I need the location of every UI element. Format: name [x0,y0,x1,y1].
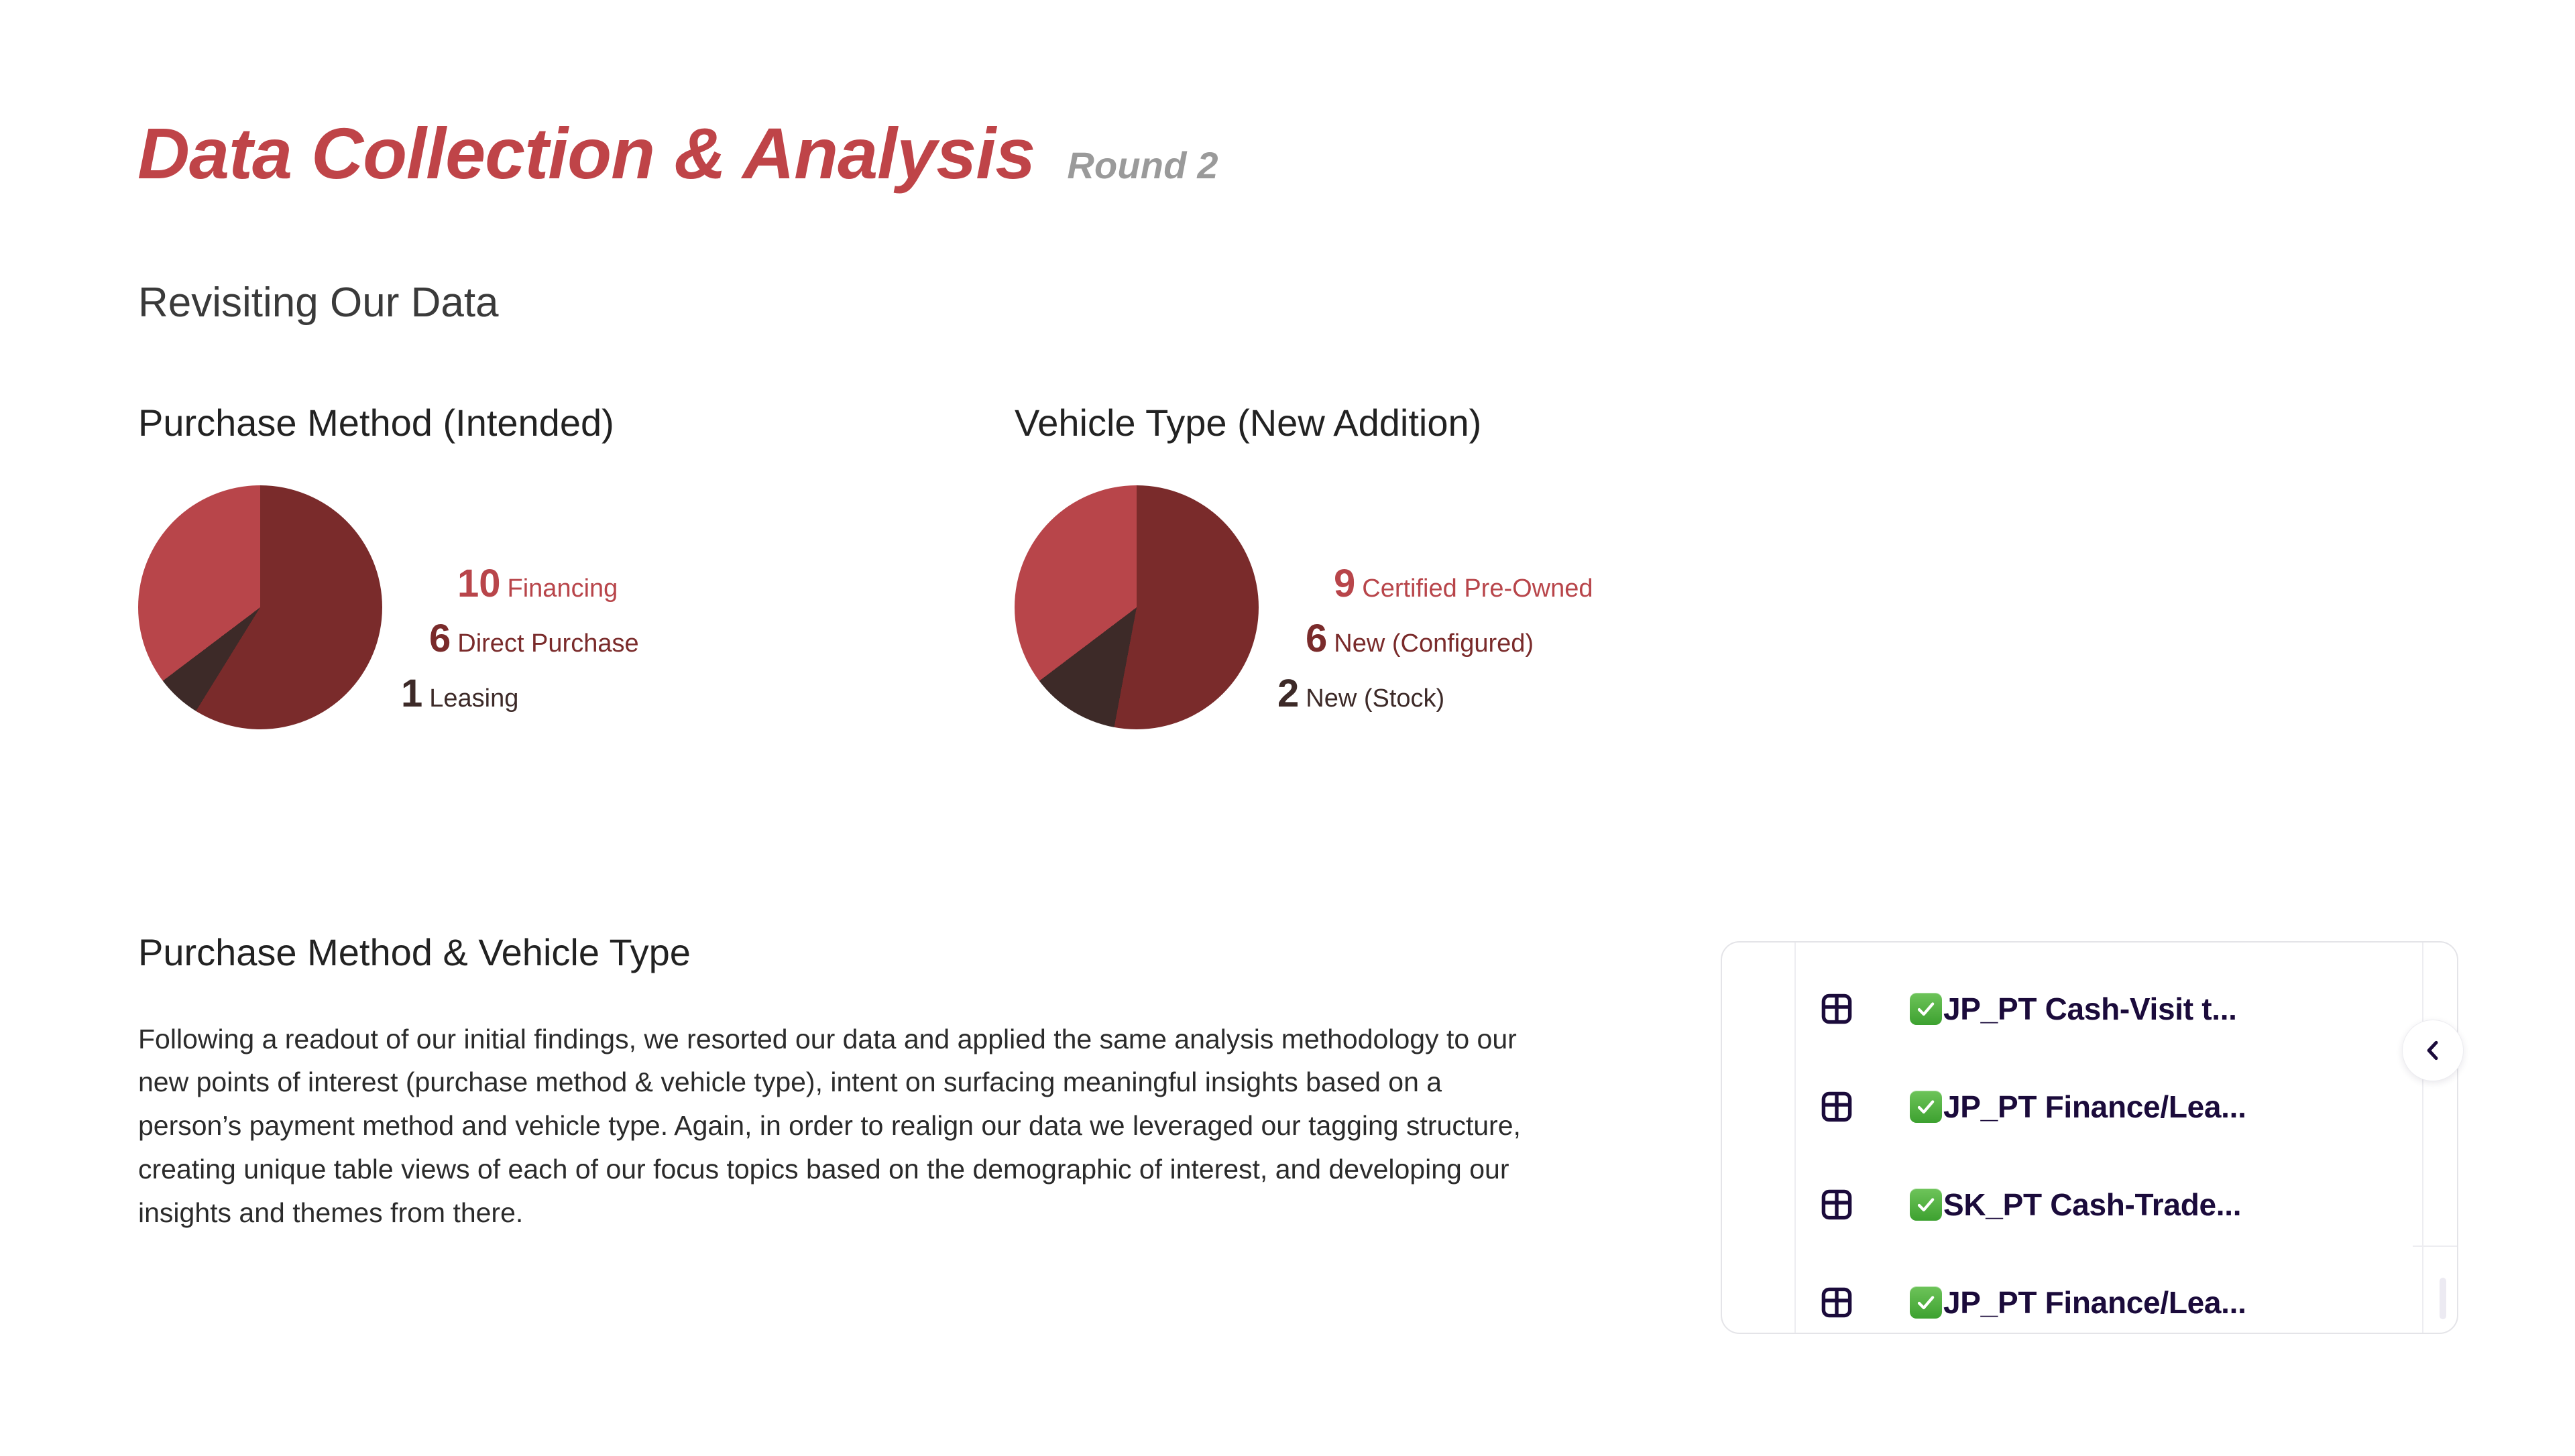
check-mark-icon [1910,993,1942,1025]
table-grid-icon [1820,1286,1853,1319]
legend-value: 2 [1277,674,1299,713]
table-row[interactable]: JP_PT Finance/Lea... [1820,1058,2457,1156]
legend-item: 9 Certified Pre-Owned [1334,564,1593,603]
collapse-panel-button[interactable] [2402,1020,2464,1081]
legend-value: 6 [429,619,451,658]
check-mark-icon [1910,1189,1942,1221]
panel-divider-left [1794,943,1796,1333]
section-heading: Revisiting Our Data [138,280,499,326]
table-view-list: JP_PT Cash-Visit t... JP_PT Finance/Lea.… [1820,960,2457,1334]
legend-label: Leasing [429,686,518,711]
legend-item: 10 Financing [457,564,618,603]
narrative-heading: Purchase Method & Vehicle Type [138,932,1526,973]
legend-label: New (Stock) [1306,686,1444,711]
chart-purchase-method: Purchase Method (Intended) 10 Financing … [138,402,639,729]
page-title: Data Collection & Analysis [137,117,1035,190]
pie-chart-purchase-method [138,485,382,729]
check-mark-icon [1910,1286,1942,1319]
legend-label: Direct Purchase [457,631,638,656]
legend-label: New (Configured) [1334,631,1534,656]
table-row-label: JP_PT Cash-Visit t... [1943,993,2237,1024]
deck-header: Data Collection & Analysis Round 2 [137,117,1218,190]
chevron-left-icon [2419,1037,2446,1064]
table-row-label: SK_PT Cash-Trade... [1943,1189,2241,1220]
pie-legend: 10 Financing 6 Direct Purchase 1 Leasing [401,485,639,713]
table-grid-icon [1820,1188,1853,1221]
table-grid-icon [1820,1090,1853,1124]
table-row[interactable]: JP_PT Cash-Visit t... [1820,960,2457,1058]
legend-label: Financing [508,576,618,601]
chart-title: Vehicle Type (New Addition) [1015,402,1593,444]
table-grid-icon [1820,992,1853,1026]
chart-vehicle-type: Vehicle Type (New Addition) 9 Certified … [1015,402,1593,729]
legend-item: 6 Direct Purchase [429,619,639,658]
table-views-panel: JP_PT Cash-Visit t... JP_PT Finance/Lea.… [1721,941,2458,1334]
chart-title: Purchase Method (Intended) [138,402,639,444]
table-row[interactable]: SK_PT Cash-Trade... [1820,1156,2457,1254]
narrative-body: Following a readout of our initial findi… [138,1018,1526,1235]
legend-value: 10 [457,564,501,603]
table-row-label: JP_PT Finance/Lea... [1943,1287,2246,1318]
round-badge: Round 2 [1067,147,1218,184]
legend-value: 9 [1334,564,1355,603]
pie-legend: 9 Certified Pre-Owned 6 New (Configured)… [1277,485,1593,713]
pie-chart-vehicle-type [1015,485,1259,729]
narrative-section: Purchase Method & Vehicle Type Following… [138,932,1526,1234]
legend-item: 2 New (Stock) [1277,674,1444,713]
legend-label: Certified Pre-Owned [1362,576,1593,601]
legend-value: 1 [401,674,422,713]
legend-item: 6 New (Configured) [1306,619,1534,658]
table-row-label: JP_PT Finance/Lea... [1943,1091,2246,1122]
table-row[interactable]: JP_PT Finance/Lea... [1820,1254,2457,1334]
legend-item: 1 Leasing [401,674,518,713]
legend-value: 6 [1306,619,1327,658]
check-mark-icon [1910,1091,1942,1123]
